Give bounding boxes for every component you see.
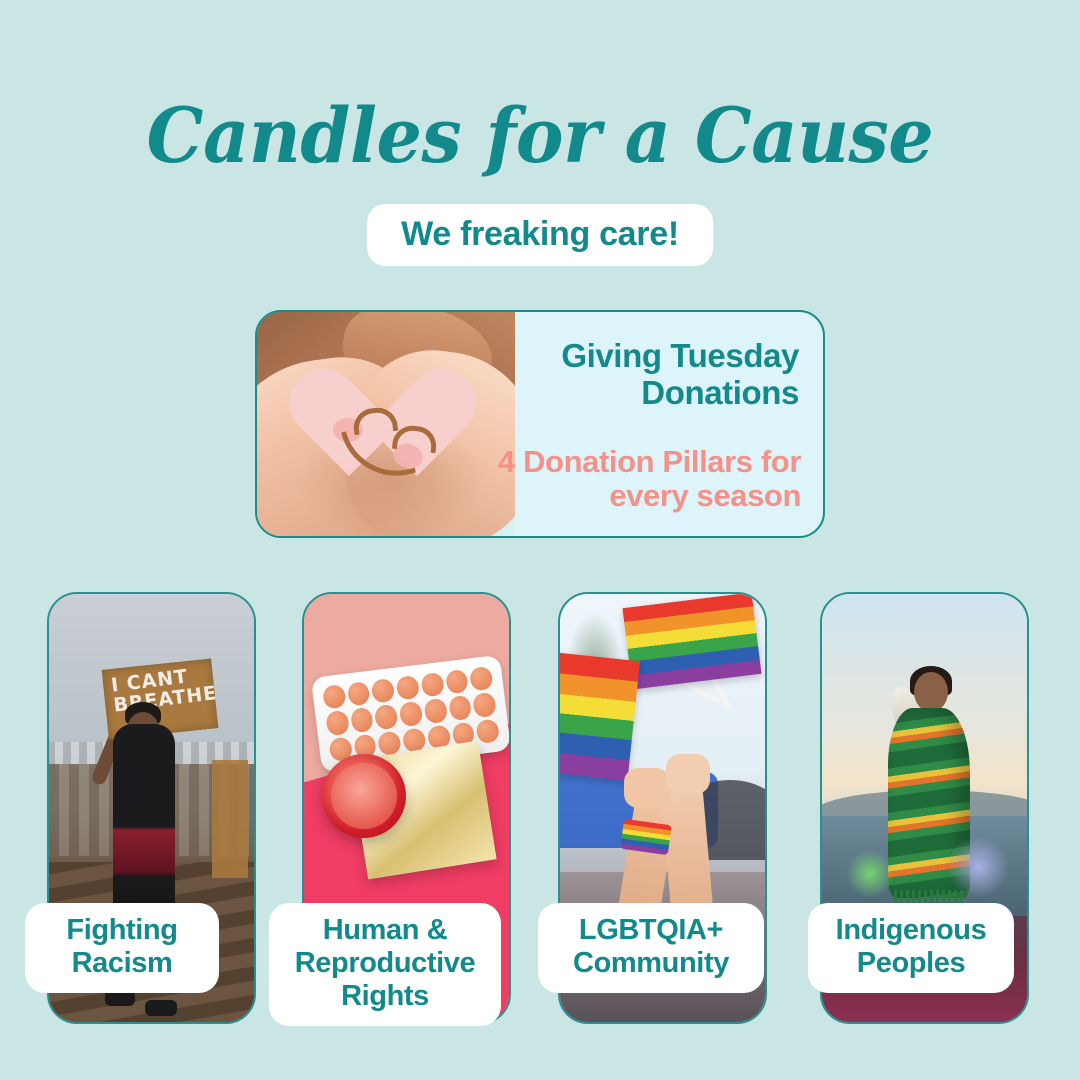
pillar-label-fighting-racism: Fighting Racism xyxy=(25,903,219,993)
rainbow-flag-upper xyxy=(622,594,761,690)
donation-card[interactable]: Giving Tuesday Donations 4 Donation Pill… xyxy=(255,310,825,538)
pill xyxy=(472,692,496,718)
protester-shoe-right xyxy=(145,1000,177,1016)
green-lens-flare xyxy=(846,850,894,898)
protester-body xyxy=(113,724,175,914)
donation-card-title: Giving Tuesday Donations xyxy=(499,338,799,412)
smiling-heart-icon xyxy=(319,368,449,496)
hand-right xyxy=(666,754,710,794)
pillar-label-human-reproductive-rights: Human & Reproductive Rights xyxy=(269,903,501,1026)
pill xyxy=(350,707,374,733)
pill xyxy=(420,672,444,698)
pill xyxy=(399,701,423,727)
page-title: Candles for a Cause xyxy=(32,98,1047,174)
head xyxy=(914,672,948,712)
pill xyxy=(448,695,472,721)
pill xyxy=(396,675,420,701)
donation-card-image xyxy=(257,312,515,536)
donation-card-subtitle: 4 Donation Pillars for every season xyxy=(481,445,801,514)
pill xyxy=(347,681,371,707)
pill xyxy=(469,666,493,692)
blue-lens-flare xyxy=(947,836,1009,898)
secondary-cardboard-sign xyxy=(212,760,248,878)
pillar-label-indigenous-peoples: Indigenous Peoples xyxy=(808,903,1014,993)
pill xyxy=(423,698,447,724)
tagline-pill: We freaking care! xyxy=(367,204,713,266)
tagline-text: We freaking care! xyxy=(401,217,679,251)
pill xyxy=(371,678,395,704)
rainbow-wristband xyxy=(620,819,672,855)
pill xyxy=(476,718,500,744)
pillar-label-lgbtqia-community: LGBTQIA+ Community xyxy=(538,903,764,993)
hand-left xyxy=(624,768,670,808)
pill xyxy=(322,684,346,710)
rainbow-flag-left xyxy=(560,651,640,780)
pill xyxy=(325,710,349,736)
condom-ring xyxy=(322,754,406,838)
pill xyxy=(374,704,398,730)
donation-card-text: Giving Tuesday Donations 4 Donation Pill… xyxy=(515,312,823,536)
pill xyxy=(445,669,469,695)
